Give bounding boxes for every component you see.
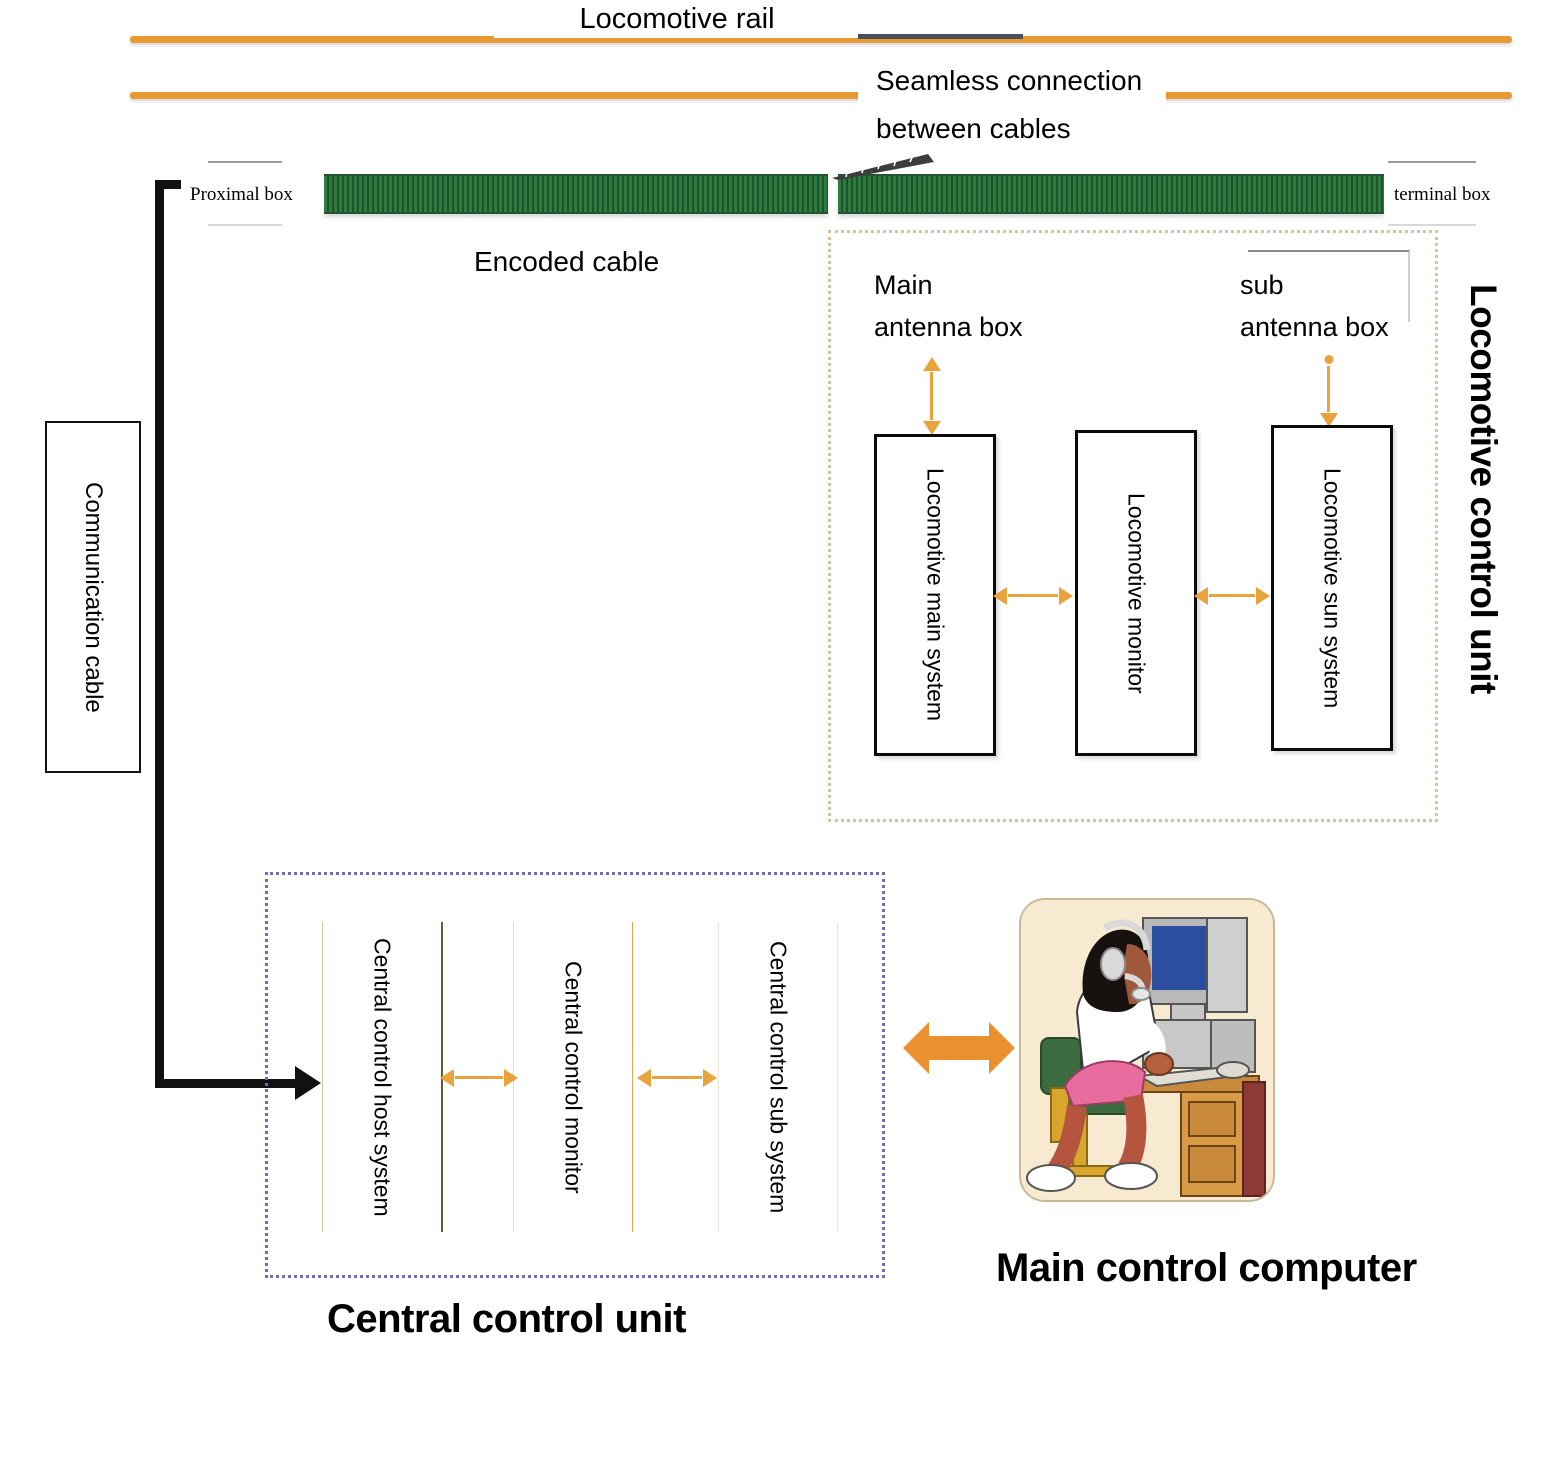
sub-antenna-bracket [1248, 250, 1410, 322]
central-control-sub-system-label: Central control sub system [765, 941, 792, 1213]
communication-cable-label: Communication cable [79, 482, 107, 713]
seamless-connection-line2: between cables [876, 105, 1071, 153]
locomotive-control-unit-title: Locomotive control unit [1462, 284, 1504, 694]
encoded-cable-segment-right [838, 174, 1384, 214]
locomotive-rail-bottom [130, 92, 1512, 99]
main-antenna-connector-arrow [930, 372, 933, 420]
locomotive-main-to-monitor-arrow [1008, 594, 1058, 597]
locomotive-main-system-label: Locomotive main system [922, 468, 949, 721]
sub-antenna-connector-arrow [1327, 366, 1330, 412]
locomotive-rail-label-plate: Locomotive rail [494, 0, 860, 38]
main-antenna-box-line1: Main [874, 264, 933, 306]
central-control-host-system-label: Central control host system [369, 938, 396, 1217]
terminal-box-leader-bottom [1388, 224, 1476, 226]
proximal-box-leader-top [208, 161, 282, 163]
central-to-computer-arrow [903, 1014, 1015, 1082]
central-host-to-monitor-arrow [455, 1076, 503, 1079]
locomotive-rail-label: Locomotive rail [579, 3, 774, 36]
terminal-box-leader-top [1388, 161, 1476, 163]
locomotive-monitor-label: Locomotive monitor [1123, 493, 1150, 694]
central-monitor-to-sub-arrow [652, 1076, 702, 1079]
rail-joint-marker [858, 34, 1023, 39]
terminal-box-label-plate: terminal box [1384, 176, 1544, 214]
locomotive-main-system-box[interactable]: Locomotive main system [874, 434, 996, 756]
locomotive-sun-system-label: Locomotive sun system [1319, 468, 1346, 708]
central-control-sub-system-box[interactable]: Central control sub system [718, 922, 838, 1232]
cable-splice-icon [828, 150, 938, 180]
central-control-monitor-label: Central control monitor [560, 961, 587, 1194]
central-control-monitor-box[interactable]: Central control monitor [513, 922, 633, 1232]
main-control-computer-title: Main control computer [996, 1246, 1417, 1291]
proximal-box-leader-bottom [208, 224, 282, 226]
main-control-computer-image [1019, 898, 1275, 1202]
central-control-unit-title: Central control unit [327, 1297, 686, 1342]
locomotive-sun-system-box[interactable]: Locomotive sun system [1271, 425, 1393, 751]
main-antenna-box-line2: antenna box [874, 306, 1023, 348]
locomotive-monitor-to-sun-arrow [1209, 594, 1255, 597]
seamless-connection-label-plate: Seamless connection between cables [858, 50, 1166, 160]
communication-cable-box: Communication cable [45, 421, 141, 773]
proximal-box-label-plate: Proximal box [176, 176, 324, 214]
central-control-host-system-box[interactable]: Central control host system [322, 922, 443, 1232]
terminal-box-label: terminal box [1394, 184, 1491, 206]
proximal-box-label: Proximal box [190, 184, 293, 206]
communication-cable-path-vertical [155, 180, 164, 1088]
locomotive-monitor-box[interactable]: Locomotive monitor [1075, 430, 1197, 756]
seamless-connection-line1: Seamless connection [876, 57, 1142, 105]
encoded-cable-segment-left [324, 174, 828, 214]
communication-cable-corner-cap [155, 180, 181, 189]
encoded-cable-label: Encoded cable [474, 246, 659, 278]
